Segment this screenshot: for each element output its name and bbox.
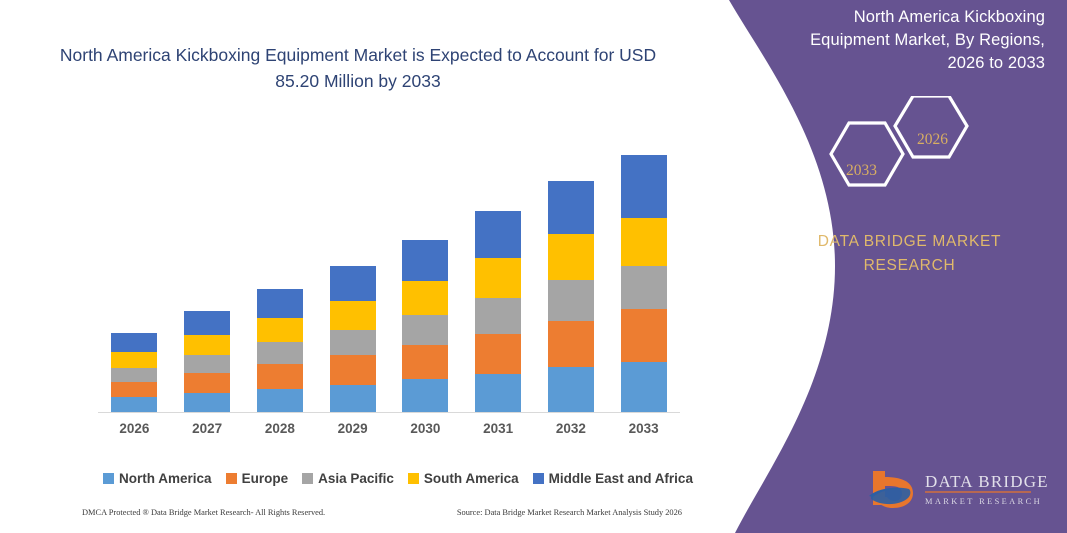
bar-segment bbox=[621, 155, 667, 218]
infographic-canvas: North America Kickboxing Equipment Marke… bbox=[0, 0, 1067, 533]
bar-segment bbox=[184, 335, 230, 355]
x-axis-line bbox=[98, 412, 680, 413]
bar-segment bbox=[257, 389, 303, 412]
x-axis-label: 2032 bbox=[535, 421, 607, 443]
x-axis-label: 2031 bbox=[462, 421, 534, 443]
legend-swatch-icon bbox=[226, 473, 237, 484]
legend-label: Europe bbox=[242, 471, 289, 486]
legend-swatch-icon bbox=[302, 473, 313, 484]
bar-segment bbox=[621, 218, 667, 266]
stacked-bar bbox=[475, 211, 521, 412]
bar-segment bbox=[184, 355, 230, 373]
bar-segment bbox=[257, 364, 303, 389]
stacked-bar bbox=[330, 266, 376, 412]
legend-item[interactable]: Europe bbox=[226, 471, 289, 486]
hexagon-label-2033: 2033 bbox=[846, 162, 877, 180]
footer: DMCA Protected ® Data Bridge Market Rese… bbox=[82, 508, 682, 517]
bar-segment bbox=[330, 330, 376, 356]
bar-segment bbox=[402, 379, 448, 412]
legend-item[interactable]: Middle East and Africa bbox=[533, 471, 693, 486]
logo-text-line1: DATA BRIDGE bbox=[925, 472, 1049, 491]
bar-segment bbox=[475, 298, 521, 333]
bar-segment bbox=[111, 352, 157, 368]
bar-segment bbox=[548, 181, 594, 234]
stacked-bar bbox=[402, 240, 448, 412]
stacked-bar-chart bbox=[98, 140, 680, 412]
bar-segment bbox=[402, 240, 448, 281]
bar-column bbox=[608, 140, 680, 412]
hexagon-badges: 2026 2033 bbox=[817, 96, 997, 211]
bar-segment bbox=[475, 334, 521, 374]
legend-item[interactable]: North America bbox=[103, 471, 212, 486]
bar-column bbox=[171, 140, 243, 412]
bar-segment bbox=[111, 397, 157, 412]
logo-mark bbox=[869, 471, 913, 508]
bar-segment bbox=[184, 311, 230, 335]
bar-segment bbox=[330, 301, 376, 330]
footer-source: Source: Data Bridge Market Research Mark… bbox=[457, 508, 682, 517]
bar-segment bbox=[184, 373, 230, 393]
bar-segment bbox=[548, 321, 594, 368]
stacked-bar bbox=[621, 155, 667, 412]
x-axis-label: 2027 bbox=[171, 421, 243, 443]
bar-column bbox=[317, 140, 389, 412]
bar-segment bbox=[330, 385, 376, 413]
brand-name: DATA BRIDGE MARKET RESEARCH bbox=[802, 230, 1017, 278]
bar-column bbox=[244, 140, 316, 412]
legend-label: Middle East and Africa bbox=[549, 471, 693, 486]
bar-column bbox=[389, 140, 461, 412]
bar-segment bbox=[548, 367, 594, 412]
legend-label: South America bbox=[424, 471, 519, 486]
bar-segment bbox=[184, 393, 230, 412]
legend-item[interactable]: Asia Pacific bbox=[302, 471, 394, 486]
company-logo: DATA BRIDGE MARKET RESEARCH bbox=[863, 465, 1049, 513]
x-axis-labels: 20262027202820292030203120322033 bbox=[98, 421, 680, 443]
stacked-bar bbox=[257, 289, 303, 412]
x-axis-label: 2026 bbox=[98, 421, 170, 443]
bar-segment bbox=[548, 234, 594, 280]
legend-swatch-icon bbox=[533, 473, 544, 484]
hexagon-label-2026: 2026 bbox=[917, 131, 948, 149]
logo-text-line2: MARKET RESEARCH bbox=[925, 497, 1042, 506]
panel-title: North America Kickboxing Equipment Marke… bbox=[805, 6, 1045, 74]
bar-segment bbox=[402, 345, 448, 379]
x-axis-label: 2029 bbox=[317, 421, 389, 443]
chart-legend: North AmericaEuropeAsia PacificSouth Ame… bbox=[98, 471, 698, 486]
bar-segment bbox=[330, 266, 376, 300]
bar-segment bbox=[257, 342, 303, 364]
legend-label: North America bbox=[119, 471, 212, 486]
bar-segment bbox=[111, 382, 157, 398]
bar-segment bbox=[402, 315, 448, 345]
stacked-bar bbox=[111, 333, 157, 412]
bar-segment bbox=[330, 355, 376, 384]
stacked-bar bbox=[548, 181, 594, 412]
bar-column bbox=[462, 140, 534, 412]
bar-column bbox=[535, 140, 607, 412]
bar-segment bbox=[621, 266, 667, 308]
bar-segment bbox=[621, 309, 667, 362]
bar-segment bbox=[475, 211, 521, 258]
bar-column bbox=[98, 140, 170, 412]
bar-segment bbox=[257, 318, 303, 342]
bar-segment bbox=[111, 368, 157, 382]
legend-swatch-icon bbox=[408, 473, 419, 484]
bar-segment bbox=[402, 281, 448, 315]
chart-title: North America Kickboxing Equipment Marke… bbox=[58, 42, 658, 95]
bar-segment bbox=[548, 280, 594, 321]
legend-label: Asia Pacific bbox=[318, 471, 394, 486]
x-axis-label: 2028 bbox=[244, 421, 316, 443]
footer-copyright: DMCA Protected ® Data Bridge Market Rese… bbox=[82, 508, 325, 517]
x-axis-label: 2030 bbox=[389, 421, 461, 443]
bar-segment bbox=[621, 362, 667, 412]
bar-segment bbox=[111, 333, 157, 352]
legend-swatch-icon bbox=[103, 473, 114, 484]
bar-segment bbox=[257, 289, 303, 318]
bar-segment bbox=[475, 258, 521, 298]
stacked-bar bbox=[184, 311, 230, 412]
legend-item[interactable]: South America bbox=[408, 471, 519, 486]
bar-segment bbox=[475, 374, 521, 412]
x-axis-label: 2033 bbox=[608, 421, 680, 443]
